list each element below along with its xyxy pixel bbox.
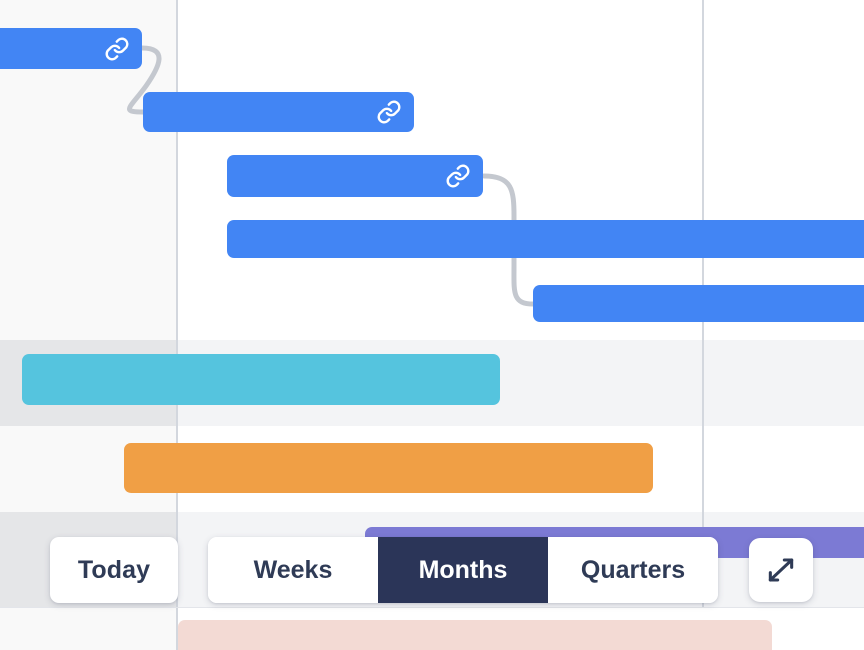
- task-bar[interactable]: [227, 220, 864, 258]
- chain-link-icon: [445, 163, 471, 189]
- today-button[interactable]: Today: [50, 537, 178, 603]
- expand-button[interactable]: [749, 538, 813, 602]
- task-bar[interactable]: [124, 443, 653, 493]
- zoom-option-months[interactable]: Months: [378, 537, 548, 603]
- zoom-level-segmented-control: Weeks Months Quarters: [208, 537, 718, 603]
- zoom-option-quarters[interactable]: Quarters: [548, 537, 718, 603]
- task-bar[interactable]: [22, 354, 500, 405]
- timeline-toolbar: Today Weeks Months Quarters: [50, 537, 813, 603]
- task-bar[interactable]: [533, 285, 864, 322]
- gantt-chart-view: Today Weeks Months Quarters: [0, 0, 864, 650]
- zoom-option-weeks[interactable]: Weeks: [208, 537, 378, 603]
- task-bar[interactable]: [178, 620, 772, 650]
- expand-arrows-icon: [765, 554, 797, 586]
- task-bar[interactable]: [0, 28, 142, 69]
- task-bar[interactable]: [227, 155, 483, 197]
- chain-link-icon: [376, 99, 402, 125]
- task-bar[interactable]: [143, 92, 414, 132]
- row-separator: [0, 607, 864, 608]
- chain-link-icon: [104, 36, 130, 62]
